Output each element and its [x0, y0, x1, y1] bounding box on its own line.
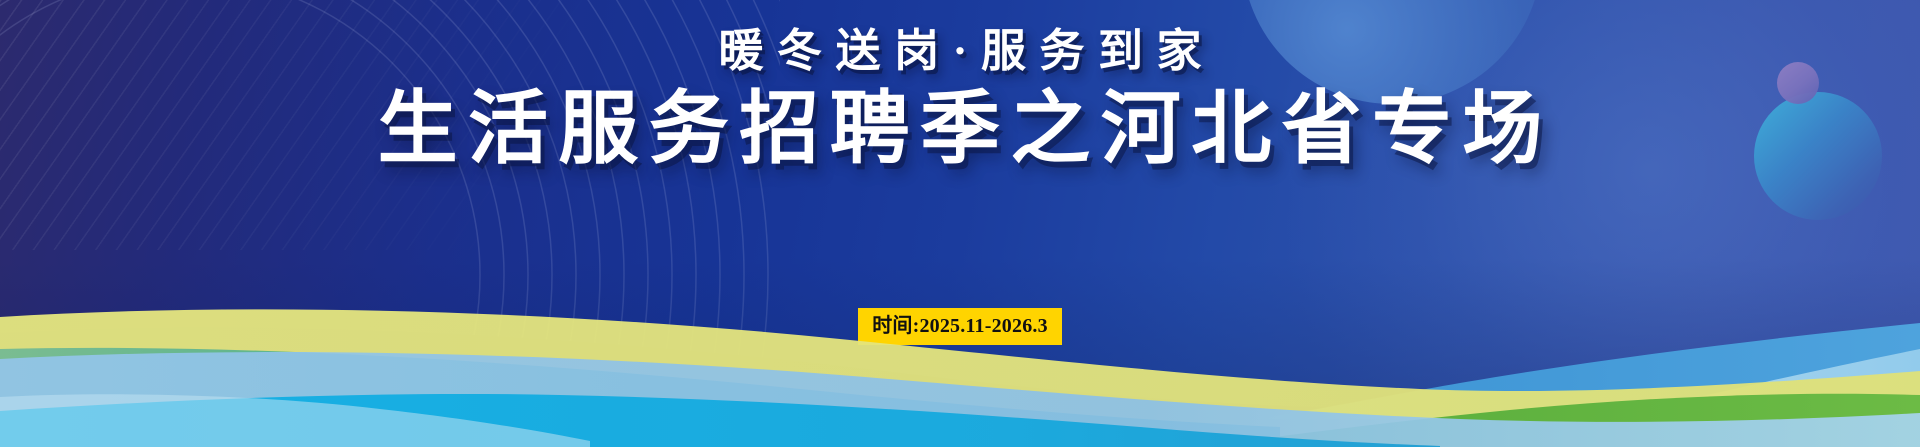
banner-title: 生活服务招聘季之河北省专场	[0, 86, 1920, 176]
recruitment-banner: 暖冬送岗·服务到家 生活服务招聘季之河北省专场 时间:2025.11-2026.…	[0, 0, 1920, 447]
banner-subtitle: 暖冬送岗·服务到家	[0, 27, 1920, 76]
banner-text-block: 暖冬送岗·服务到家 生活服务招聘季之河北省专场	[0, 0, 1920, 175]
wave-graphics	[0, 287, 1920, 447]
